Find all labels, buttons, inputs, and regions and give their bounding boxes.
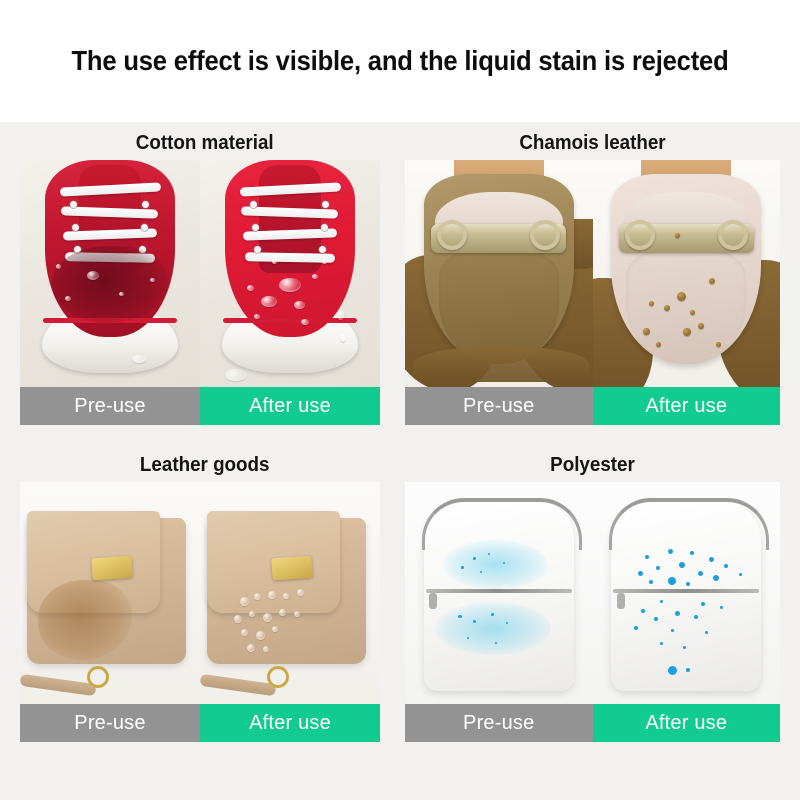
image-chamois-before — [405, 160, 593, 387]
image-pair-chamois-leather — [405, 160, 780, 387]
label-after-use-leather: After use — [200, 704, 380, 742]
image-pair-leather-goods — [20, 482, 380, 704]
image-pair-polyester — [405, 482, 780, 704]
panel-title-polyester: Polyester — [416, 452, 769, 482]
comparison-grid: Cotton material — [0, 122, 800, 800]
panel-cotton-material: Cotton material — [20, 130, 380, 425]
image-leather-before — [20, 482, 200, 704]
labelbar-cotton-material: Pre-use After use — [20, 387, 380, 425]
label-after-use-chamois: After use — [593, 387, 781, 425]
panel-title-leather-goods: Leather goods — [31, 452, 369, 482]
image-leather-after — [200, 482, 380, 704]
image-pair-cotton-material — [20, 160, 380, 387]
labelbar-leather-goods: Pre-use After use — [20, 704, 380, 742]
image-cotton-after — [200, 160, 380, 387]
panel-title-cotton-material: Cotton material — [31, 130, 369, 160]
page-title: The use effect is visible, and the liqui… — [28, 45, 772, 77]
label-pre-use-leather: Pre-use — [20, 704, 200, 742]
label-pre-use-chamois: Pre-use — [405, 387, 593, 425]
panel-chamois-leather: Chamois leather — [405, 130, 780, 425]
label-after-use-polyester: After use — [593, 704, 781, 742]
panel-leather-goods: Leather goods — [20, 452, 380, 742]
labelbar-polyester: Pre-use After use — [405, 704, 780, 742]
image-cotton-before — [20, 160, 200, 387]
panel-polyester: Polyester — [405, 452, 780, 742]
label-after-use-cotton: After use — [200, 387, 380, 425]
image-polyester-before — [405, 482, 593, 704]
labelbar-chamois-leather: Pre-use After use — [405, 387, 780, 425]
label-pre-use-cotton: Pre-use — [20, 387, 200, 425]
image-chamois-after — [593, 160, 781, 387]
panel-title-chamois-leather: Chamois leather — [416, 130, 769, 160]
label-pre-use-polyester: Pre-use — [405, 704, 593, 742]
image-polyester-after — [593, 482, 781, 704]
infographic-page: The use effect is visible, and the liqui… — [0, 0, 800, 800]
